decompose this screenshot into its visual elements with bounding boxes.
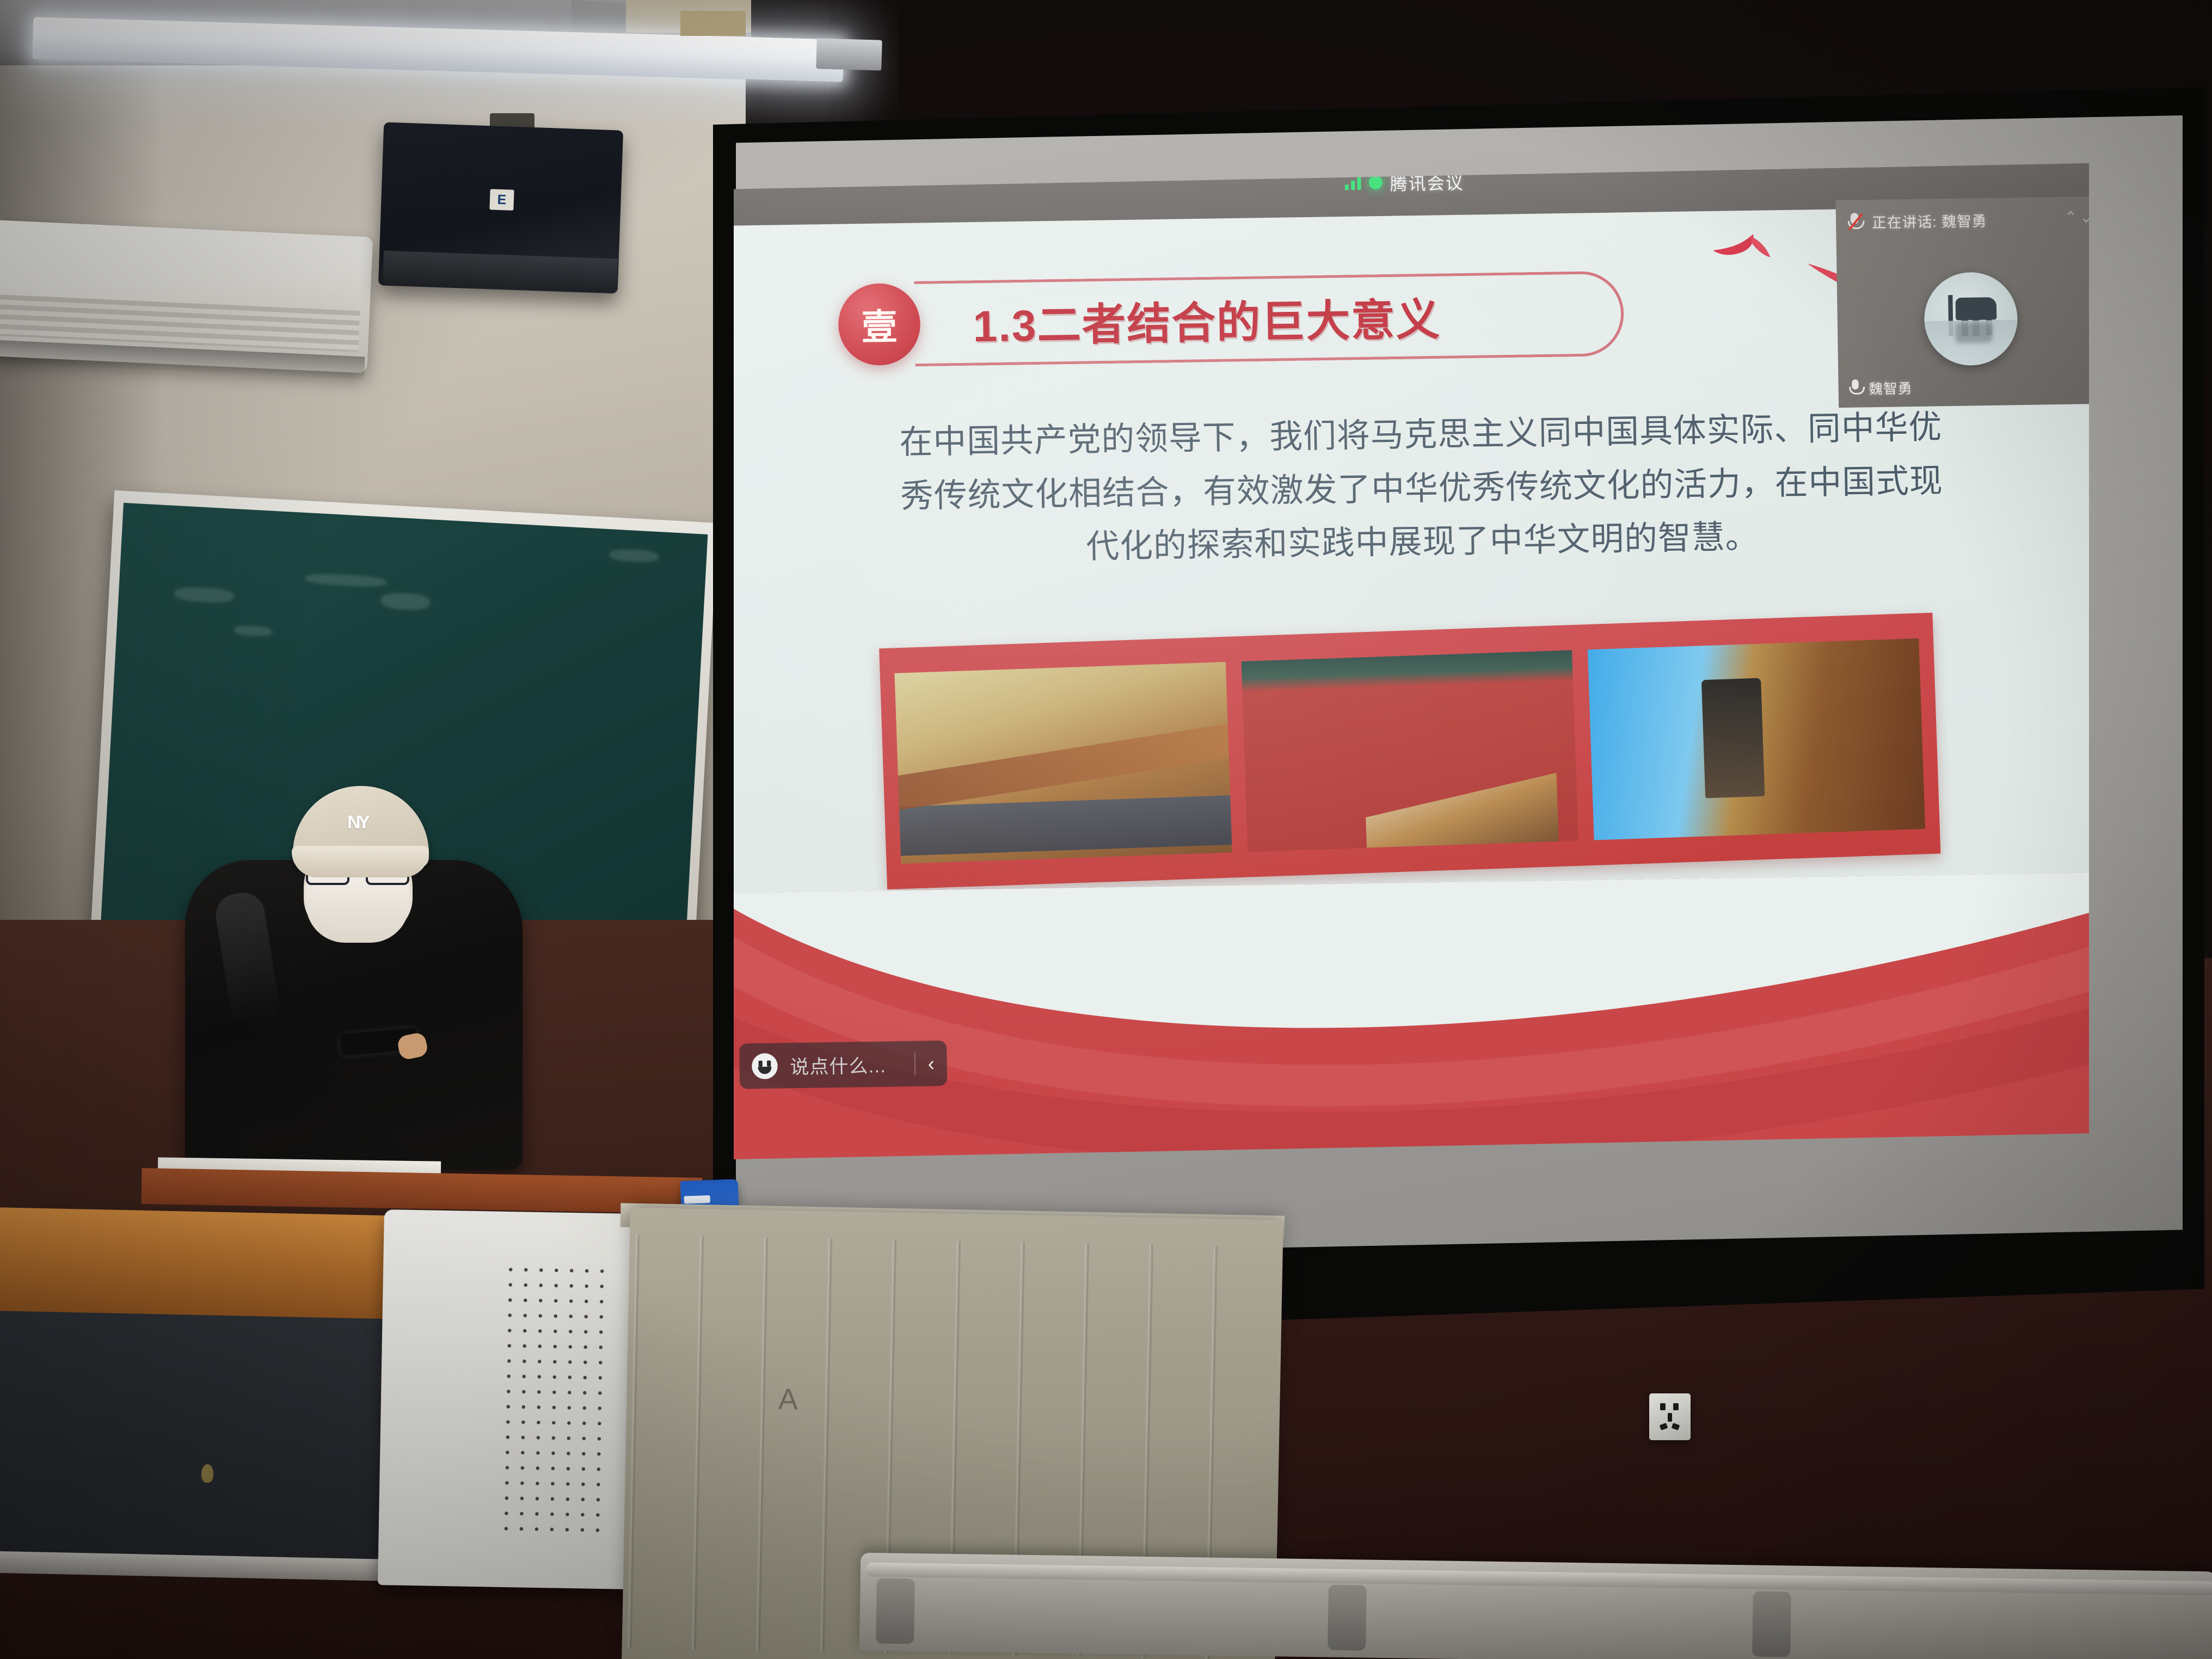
chevron-left-icon[interactable]: ‹ (927, 1053, 935, 1073)
projected-meeting-window: 腾讯会议 壹 (734, 163, 2089, 1159)
slide-photo-forbidden-city-roofs (894, 662, 1232, 864)
section-number-badge: 壹 (838, 283, 921, 366)
speaker-brand-badge: E (489, 189, 514, 211)
chat-input-bar[interactable]: 说点什么... ‹ (739, 1041, 947, 1089)
light-fixture-end (816, 38, 882, 70)
cap-brim (292, 846, 429, 877)
active-speaker-label: 正在讲话: 魏智勇 (1872, 210, 1987, 232)
participant-name-row: 魏智勇 (1848, 377, 1913, 398)
smiley-face-icon[interactable] (752, 1053, 778, 1079)
classroom-scene: E 腾讯会议 (0, 0, 2212, 1659)
chat-divider (914, 1053, 916, 1075)
participant-name: 魏智勇 (1869, 377, 1913, 398)
slide-title: 1.3二者结合的巨大意义 (973, 285, 1441, 354)
avatar-reflection (1955, 322, 1993, 343)
slide-body-text: 在中国共产党的领导下，我们将马克思主义同中国具体实际、同中华优 秀传统文化相结合… (860, 400, 1983, 577)
participant-video-tile[interactable]: 正在讲话: 魏智勇 ⌃⌄ 魏智勇 (1836, 196, 2089, 408)
photo-strip (879, 613, 1940, 890)
mic-icon (1848, 379, 1862, 397)
slide-photo-lamp-blue-sky (1588, 638, 1925, 840)
mic-muted-icon (1846, 212, 1863, 232)
signal-bars-icon (1344, 175, 1361, 190)
recording-dot-icon (1368, 176, 1382, 189)
lectern-lock (201, 1464, 214, 1483)
video-tile-header: 正在讲话: 魏智勇 (1836, 196, 2089, 244)
video-tile-collapse-control[interactable]: ⌃⌄ (2064, 208, 2089, 227)
slide-title-row: 壹 1.3二者结合的巨大意义 (838, 271, 1624, 367)
avatar (1924, 272, 2018, 366)
cap-logo: NY (347, 812, 367, 833)
desk-marking: A (778, 1382, 798, 1417)
title-pill-outline: 1.3二者结合的巨大意义 (914, 271, 1624, 366)
slide-wave-decoration (734, 872, 2089, 1159)
red-bird-icon (1711, 232, 1796, 274)
slide-photo-red-wall-eaves (1241, 650, 1578, 852)
speaker-grille-icon (499, 1262, 612, 1541)
bench-bracket (876, 1578, 915, 1644)
bench-bracket (1752, 1592, 1791, 1657)
chat-input-placeholder[interactable]: 说点什么... (790, 1050, 902, 1079)
person-with-phone: NY (163, 729, 544, 1165)
wall-outlet (1649, 1393, 1691, 1440)
light-mount (680, 11, 746, 36)
bench-bracket (1328, 1585, 1367, 1651)
